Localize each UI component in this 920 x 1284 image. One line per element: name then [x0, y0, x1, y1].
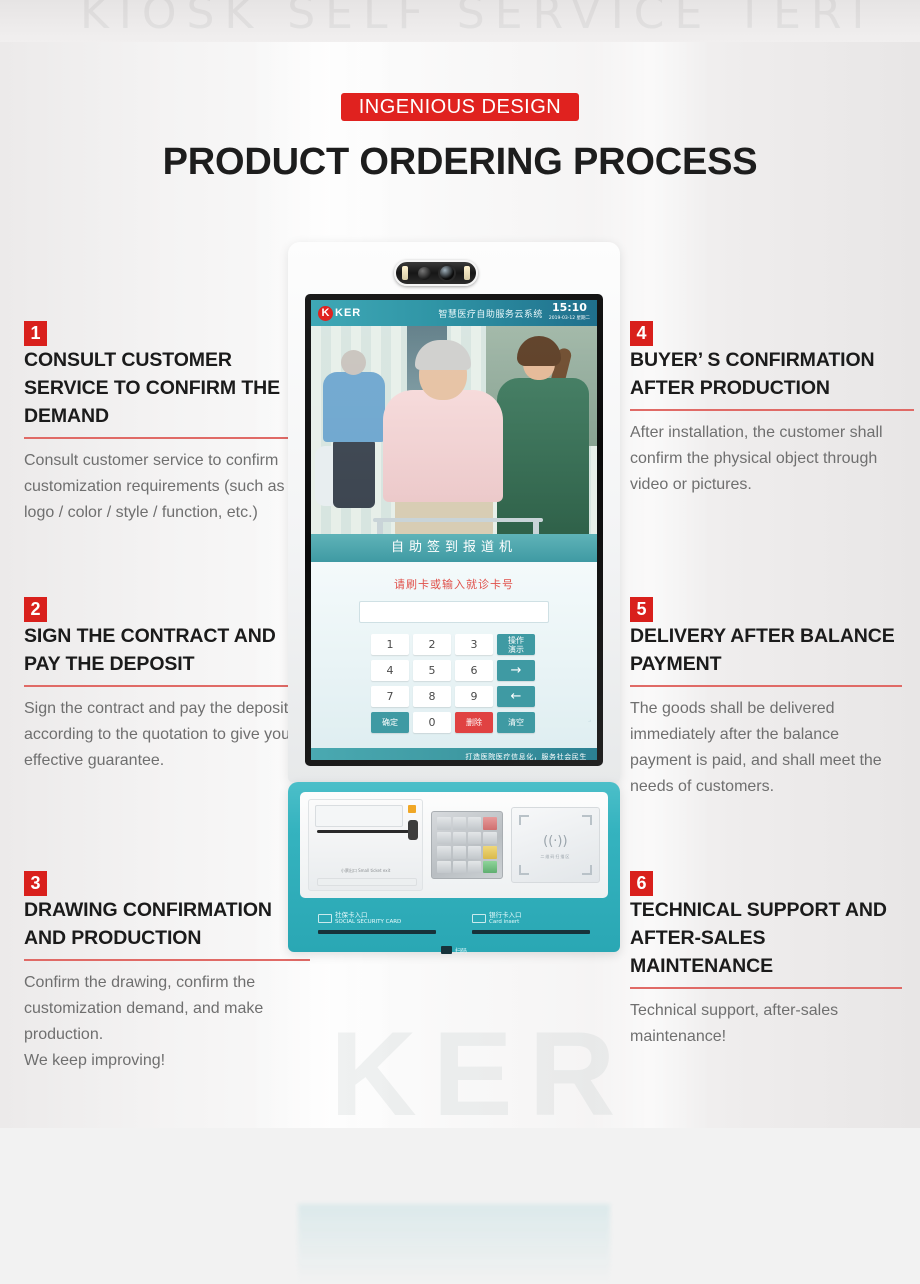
camera-lens-icon [418, 267, 431, 280]
pinpad-cancel-key[interactable] [483, 817, 496, 830]
camera-lens-secondary-icon [440, 266, 454, 280]
step-title: BUYER’ S CONFIRMATION AFTER PRODUCTION [630, 346, 914, 402]
keypad-key-9[interactable]: 9 [455, 686, 493, 707]
infrared-led-icon [402, 266, 408, 280]
clock-date-value: 2019-03-12 星期二 [549, 313, 590, 324]
step-divider [24, 685, 310, 687]
pinpad-key[interactable] [437, 817, 450, 830]
pinpad-key[interactable] [468, 846, 481, 859]
step-header: 6 TECHNICAL SUPPORT AND AFTER-SALES MAIN… [630, 870, 902, 980]
printer-lid [315, 805, 403, 827]
barcode-scanner-icon [441, 946, 452, 954]
card-prompt-label: 请刷卡或输入就诊卡号 [311, 562, 597, 592]
step-divider [630, 685, 902, 687]
system-name-label: 智慧医疗自助服务云系统 [438, 307, 543, 320]
brand-logo-icon: K [318, 306, 333, 321]
step-description: After installation, the customer shall c… [630, 420, 914, 498]
scanner-corner-marker-icon [582, 865, 592, 875]
process-step-6: 6 TECHNICAL SUPPORT AND AFTER-SALES MAIN… [630, 870, 902, 1050]
pinpad-key[interactable] [468, 817, 481, 830]
step-header: 5 DELIVERY AFTER BALANCE PAYMENT [630, 596, 902, 678]
step-title: DELIVERY AFTER BALANCE PAYMENT [630, 622, 902, 678]
card-slot-opening[interactable] [318, 930, 436, 934]
kiosk-floor-reflection [298, 1204, 610, 1284]
infrared-led-icon [464, 266, 470, 280]
slot-label-row: 银行卡入口 Card insert [472, 912, 590, 925]
kiosk-upper-housing: K KER 智慧医疗自助服务云系统 15:10 2019-03-12 星期二 [288, 242, 620, 782]
step-divider [630, 987, 902, 989]
process-step-1: 1 CONSULT CUSTOMER SERVICE TO CONFIRM TH… [24, 320, 310, 526]
card-icon [318, 914, 332, 923]
photo-overlay [311, 326, 597, 534]
pinpad-key[interactable] [437, 861, 450, 874]
step-number-badge: 5 [630, 597, 653, 622]
step-number-badge: 1 [24, 321, 47, 346]
keypad-key-8[interactable]: 8 [413, 686, 451, 707]
background-watermark-brand: KER [330, 1005, 631, 1143]
pinpad-clear-key[interactable] [483, 846, 496, 859]
clock-time: 15:10 2019-03-12 星期二 [549, 302, 590, 324]
receipt-printer-module: 小票出口 Small ticket exit [308, 799, 423, 891]
onscreen-keypad[interactable]: 123操作演示456→789←确定0删除清空 [371, 634, 537, 733]
keypad-key-7[interactable]: 7 [371, 686, 409, 707]
keypad-key-1[interactable]: 1 [371, 634, 409, 655]
pinpad-enter-key[interactable] [483, 861, 496, 874]
step-number-badge: 2 [24, 597, 47, 622]
printer-paper-tray [317, 878, 417, 886]
step-description: Sign the contract and pay the deposit ac… [24, 696, 310, 774]
pinpad-key[interactable] [453, 832, 466, 845]
hardware-module-panel: 小票出口 Small ticket exit [300, 792, 608, 898]
pinpad-key[interactable] [468, 832, 481, 845]
step-divider [24, 437, 310, 439]
kiosk-lower-housing: 小票出口 Small ticket exit [288, 782, 620, 952]
step-divider [630, 409, 914, 411]
step-description: Consult customer service to confirm cust… [24, 448, 310, 526]
metal-pin-pad-module[interactable] [431, 811, 503, 879]
keypad-key-4[interactable]: 4 [371, 660, 409, 681]
scanner-label: 二维码扫描区 [512, 854, 599, 860]
slot-label: 银行卡入口 Card insert [489, 912, 522, 925]
slot-label-en: SOCIAL SECURITY CARD [335, 919, 401, 925]
screen-banner-title: 自助签到报道机 [311, 534, 597, 562]
step-description: Technical support, after-sales maintenan… [630, 998, 902, 1050]
keypad-key-操作-演示[interactable]: 操作演示 [497, 634, 535, 655]
barcode-scan-area[interactable]: 扫码 [300, 946, 608, 955]
social-security-card-slot[interactable]: 社保卡入口 SOCIAL SECURITY CARD [318, 912, 436, 934]
process-step-3: 3 DRAWING CONFIRMATION AND PRODUCTION Co… [24, 870, 310, 1074]
printer-status-led-icon [408, 805, 416, 813]
step-description: The goods shall be delivered immediately… [630, 696, 902, 800]
brand-logo-text: KER [335, 307, 361, 319]
scanner-corner-marker-icon [582, 815, 592, 825]
section-badge: INGENIOUS DESIGN [341, 93, 579, 121]
process-step-4: 4 BUYER’ S CONFIRMATION AFTER PRODUCTION… [630, 320, 914, 498]
kiosk-screen: K KER 智慧医疗自助服务云系统 15:10 2019-03-12 星期二 [311, 300, 597, 760]
nfc-wave-icon: ((·)) [512, 834, 599, 849]
slot-label-en: Card insert [489, 919, 519, 925]
pinpad-key[interactable] [468, 861, 481, 874]
card-slot-area: 社保卡入口 SOCIAL SECURITY CARD 银行卡入口 Card in… [300, 912, 608, 960]
pinpad-key[interactable] [483, 832, 496, 845]
step-title: DRAWING CONFIRMATION AND PRODUCTION [24, 896, 310, 952]
step-header: 3 DRAWING CONFIRMATION AND PRODUCTION [24, 870, 310, 952]
slot-label-row: 社保卡入口 SOCIAL SECURITY CARD [318, 912, 436, 925]
page-title: PRODUCT ORDERING PROCESS [0, 141, 920, 184]
scanner-corner-marker-icon [519, 815, 529, 825]
kiosk-product-image: K KER 智慧医疗自助服务云系统 15:10 2019-03-12 星期二 [288, 242, 620, 962]
scanner-corner-marker-icon [519, 865, 529, 875]
card-icon [472, 914, 486, 923]
printer-release-knob [408, 820, 418, 840]
process-step-2: 2 SIGN THE CONTRACT AND PAY THE DEPOSIT … [24, 596, 310, 774]
screen-footer-slogan: 打造医院医疗信息化，服务社会民生 [311, 748, 597, 760]
keypad-key-2[interactable]: 2 [413, 634, 451, 655]
step-header: 1 CONSULT CUSTOMER SERVICE TO CONFIRM TH… [24, 320, 310, 430]
slot-label: 社保卡入口 SOCIAL SECURITY CARD [335, 912, 401, 925]
step-number-badge: 6 [630, 871, 653, 896]
process-step-5: 5 DELIVERY AFTER BALANCE PAYMENT The goo… [630, 596, 902, 800]
screen-hero-photo [311, 326, 597, 534]
background-watermark-top: KIOSK SELF SERVICE TERMINAL [80, 0, 860, 42]
step-title: TECHNICAL SUPPORT AND AFTER-SALES MAINTE… [630, 896, 902, 980]
screen-status-bar: K KER 智慧医疗自助服务云系统 15:10 2019-03-12 星期二 [311, 300, 597, 326]
keypad-key-确定[interactable]: 确定 [371, 712, 409, 733]
printer-label: 小票出口 Small ticket exit [309, 868, 422, 874]
screen-main-panel: 请刷卡或输入就诊卡号 123操作演示456→789←确定0删除清空 [311, 562, 597, 748]
step-number-badge: 3 [24, 871, 47, 896]
card-number-input[interactable] [359, 601, 549, 623]
keypad-key-6[interactable]: 6 [455, 660, 493, 681]
pinpad-key[interactable] [453, 817, 466, 830]
scan-label: 扫码 [455, 948, 467, 955]
keypad-key-5[interactable]: 5 [413, 660, 451, 681]
keypad-key-→[interactable]: → [497, 660, 535, 681]
step-header: 4 BUYER’ S CONFIRMATION AFTER PRODUCTION [630, 320, 914, 402]
step-divider [24, 959, 310, 961]
pinpad-key[interactable] [437, 846, 450, 859]
pinpad-key[interactable] [437, 832, 450, 845]
pinpad-key[interactable] [453, 861, 466, 874]
face-recognition-camera-module [394, 260, 478, 286]
step-number-badge: 4 [630, 321, 653, 346]
pinpad-key[interactable] [453, 846, 466, 859]
keypad-key-删除[interactable]: 删除 [455, 712, 493, 733]
card-slot-opening[interactable] [472, 930, 590, 934]
keypad-key-0[interactable]: 0 [413, 712, 451, 733]
step-title: SIGN THE CONTRACT AND PAY THE DEPOSIT [24, 622, 310, 678]
bank-card-slot[interactable]: 银行卡入口 Card insert [472, 912, 590, 934]
printer-paper-slot [317, 830, 409, 833]
keypad-key-←[interactable]: ← [497, 686, 535, 707]
keypad-key-3[interactable]: 3 [455, 634, 493, 655]
nfc-qr-scanner-module[interactable]: ((·)) 二维码扫描区 [511, 807, 600, 883]
step-title: CONSULT CUSTOMER SERVICE TO CONFIRM THE … [24, 346, 310, 430]
keypad-key-清空[interactable]: 清空 [497, 712, 535, 733]
step-description: Confirm the drawing, confirm the customi… [24, 970, 310, 1074]
display-bezel: K KER 智慧医疗自助服务云系统 15:10 2019-03-12 星期二 [305, 294, 603, 766]
step-header: 2 SIGN THE CONTRACT AND PAY THE DEPOSIT [24, 596, 310, 678]
